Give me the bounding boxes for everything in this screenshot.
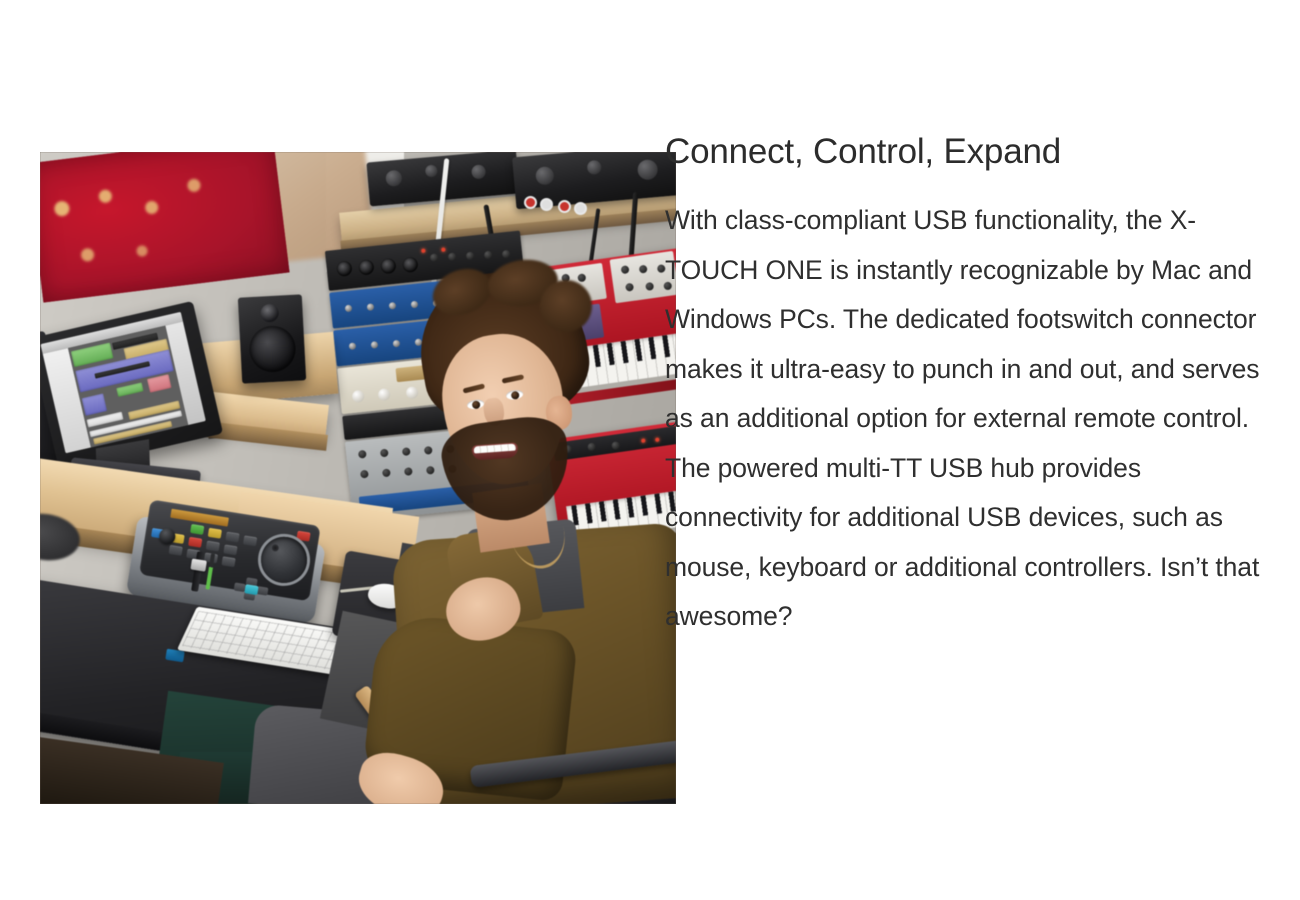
page-root: Connect, Control, Expand With class-comp… <box>0 0 1300 900</box>
photo-scene <box>40 152 676 804</box>
eyebrow-right <box>502 374 525 383</box>
section-heading: Connect, Control, Expand <box>665 130 1283 174</box>
text-column: Connect, Control, Expand With class-comp… <box>665 130 1283 642</box>
eyebrow-left <box>463 383 486 393</box>
seated-man <box>40 152 676 804</box>
section-body-text: With class-compliant USB functionality, … <box>665 196 1283 642</box>
studio-photo <box>40 152 676 804</box>
eye-right <box>506 389 524 400</box>
teeth <box>474 444 516 454</box>
eye-left <box>467 399 485 410</box>
